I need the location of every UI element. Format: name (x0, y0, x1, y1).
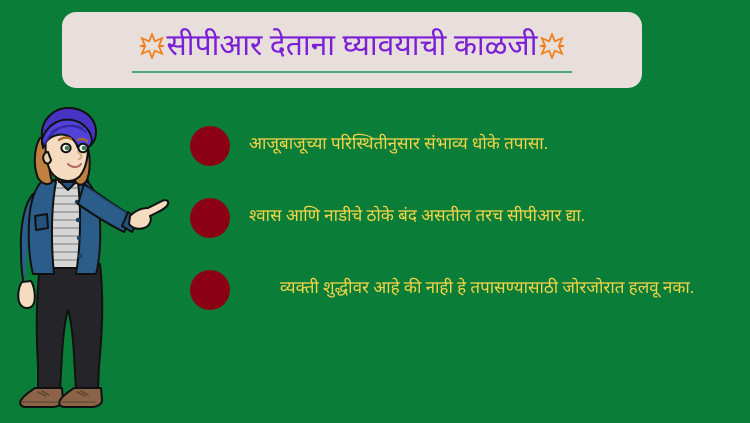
page-title: सीपीआर देताना घ्यावयाची काळजी (167, 29, 538, 63)
star-ornament-right-icon (539, 33, 565, 59)
character-illustration-pointing-person (2, 104, 178, 416)
infographic-slide: सीपीआर देताना घ्यावयाची काळजी (0, 0, 750, 423)
list-item: श्वास आणि नाडीचे ठोके बंद असतील तरच सीपी… (190, 196, 735, 238)
bullet-dot-icon (190, 198, 230, 238)
bullet-dot-icon (190, 126, 230, 166)
title-row: सीपीआर देताना घ्यावयाची काळजी (139, 29, 566, 63)
list-item-text: श्वास आणि नाडीचे ठोके बंद असतील तरच सीपी… (230, 196, 735, 229)
star-ornament-left-icon (139, 33, 165, 59)
list-item-text: व्यक्ती शुद्धीवर आहे की नाही हे तपासण्या… (230, 268, 735, 301)
bullet-list: आजूबाजूच्या परिस्थितीनुसार संभाव्य धोके … (190, 124, 735, 340)
list-item-text: आजूबाजूच्या परिस्थितीनुसार संभाव्य धोके … (230, 124, 735, 157)
list-item: व्यक्ती शुद्धीवर आहे की नाही हे तपासण्या… (190, 268, 735, 310)
bullet-dot-icon (190, 270, 230, 310)
title-banner: सीपीआर देताना घ्यावयाची काळजी (62, 12, 642, 88)
list-item: आजूबाजूच्या परिस्थितीनुसार संभाव्य धोके … (190, 124, 735, 166)
title-underline (132, 71, 572, 73)
